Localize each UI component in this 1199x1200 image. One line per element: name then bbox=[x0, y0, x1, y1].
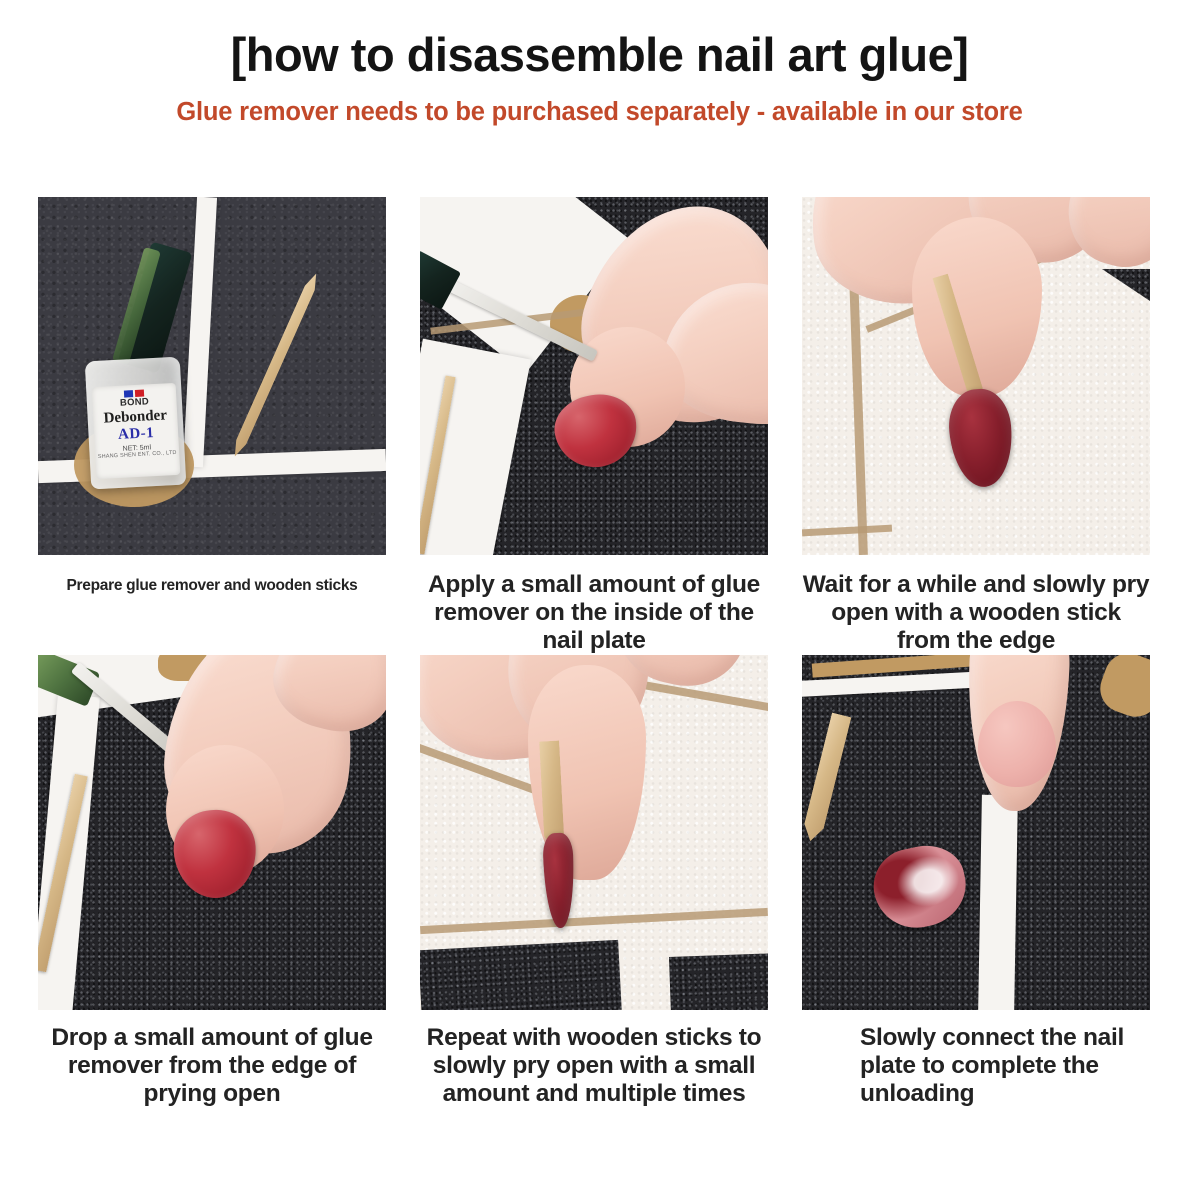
white-divider-strip-vertical bbox=[978, 794, 1018, 1009]
step-cell-4: Drop a small amount of glue remover from… bbox=[38, 655, 386, 1108]
photo-prying-with-wooden-stick bbox=[802, 197, 1150, 555]
step-caption-3: Wait for a while and slowly pry open wit… bbox=[802, 555, 1150, 655]
step-cell-6: Slowly connect the nail plate to complet… bbox=[802, 655, 1150, 1108]
step-cell-2: Apply a small amount of glue remover on … bbox=[420, 197, 768, 655]
photo-glue-remover-and-sticks: BOND Debonder AD-1 NET: 5ml SHANG SHEN E… bbox=[38, 197, 386, 555]
step-cell-3: Wait for a while and slowly pry open wit… bbox=[802, 197, 1150, 655]
step-caption-1: Prepare glue remover and wooden sticks bbox=[38, 555, 386, 595]
bottle-label: BOND Debonder AD-1 NET: 5ml SHANG SHEN E… bbox=[92, 383, 181, 479]
step-caption-5: Repeat with wooden sticks to slowly pry … bbox=[420, 1010, 768, 1108]
page-subtitle: Glue remover needs to be purchased separ… bbox=[0, 98, 1199, 126]
background-corner-black-2 bbox=[669, 953, 768, 1010]
step-cell-1: BOND Debonder AD-1 NET: 5ml SHANG SHEN E… bbox=[38, 197, 386, 655]
steps-grid: BOND Debonder AD-1 NET: 5ml SHANG SHEN E… bbox=[38, 197, 1170, 1108]
background-corner-black bbox=[420, 940, 622, 1010]
step-caption-4: Drop a small amount of glue remover from… bbox=[38, 1010, 386, 1108]
step-cell-5: Repeat with wooden sticks to slowly pry … bbox=[420, 655, 768, 1108]
step-caption-6: Slowly connect the nail plate to complet… bbox=[802, 1010, 1150, 1108]
photo-repeat-prying bbox=[420, 655, 768, 1010]
photo-dropping-remover-at-edge bbox=[38, 655, 386, 1010]
page-header: [how to disassemble nail art glue] Glue … bbox=[0, 0, 1199, 126]
photo-nail-plate-removed bbox=[802, 655, 1150, 1010]
step-caption-2: Apply a small amount of glue remover on … bbox=[420, 555, 768, 655]
page-title: [how to disassemble nail art glue] bbox=[0, 30, 1199, 81]
photo-applying-glue-remover bbox=[420, 197, 768, 555]
